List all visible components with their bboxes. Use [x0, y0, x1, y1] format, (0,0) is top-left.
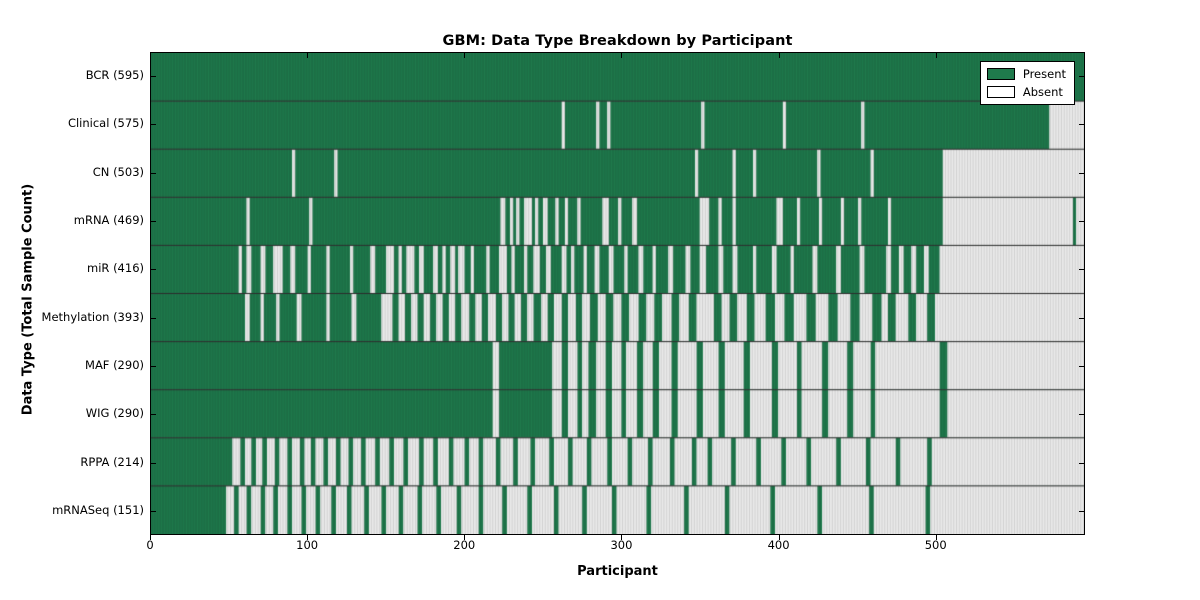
legend-label-absent: Absent: [1023, 85, 1063, 99]
x-tick-mark: [307, 535, 308, 540]
x-tick-mark: [936, 535, 937, 540]
y-axis-tick-cn: CN (503): [4, 165, 144, 179]
legend-swatch-absent: [987, 86, 1015, 98]
x-axis-tick-400: 400: [749, 538, 809, 552]
y-tick-mark: [150, 511, 156, 512]
y-tick-mark: [150, 414, 156, 415]
y-tick-mark-right: [1079, 269, 1085, 270]
x-axis-label: Participant: [150, 564, 1085, 579]
chart-title: GBM: Data Type Breakdown by Participant: [150, 33, 1085, 49]
x-axis-tick-100: 100: [277, 538, 337, 552]
y-axis-tick-rppa: RPPA (214): [4, 455, 144, 469]
y-tick-mark-right: [1079, 463, 1085, 464]
y-tick-mark: [150, 318, 156, 319]
legend-label-present: Present: [1023, 67, 1066, 81]
y-tick-mark: [150, 463, 156, 464]
y-tick-mark: [150, 269, 156, 270]
plot-area: Present Absent: [150, 52, 1085, 535]
x-tick-mark-top: [464, 53, 465, 58]
x-tick-mark: [779, 535, 780, 540]
y-tick-mark-right: [1079, 318, 1085, 319]
y-tick-mark-right: [1079, 124, 1085, 125]
chart-figure: GBM: Data Type Breakdown by Participant …: [0, 0, 1200, 600]
x-axis-tick-500: 500: [906, 538, 966, 552]
y-tick-mark: [150, 366, 156, 367]
y-axis-tick-maf: MAF (290): [4, 358, 144, 372]
chart-legend: Present Absent: [980, 61, 1075, 105]
y-axis-tick-labels: BCR (595)Clinical (575)CN (503)mRNA (469…: [0, 52, 144, 535]
heatmap-canvas: [151, 53, 1084, 534]
y-axis-tick-bcr: BCR (595): [4, 68, 144, 82]
y-axis-tick-wig: WIG (290): [4, 406, 144, 420]
x-axis-tick-300: 300: [591, 538, 651, 552]
y-axis-tick-mrna: mRNA (469): [4, 213, 144, 227]
y-tick-mark-right: [1079, 173, 1085, 174]
legend-item-present: Present: [987, 67, 1066, 81]
x-tick-mark-top: [307, 53, 308, 58]
y-tick-mark-right: [1079, 414, 1085, 415]
x-tick-mark: [464, 535, 465, 540]
y-tick-mark: [150, 173, 156, 174]
y-axis-tick-clinical: Clinical (575): [4, 116, 144, 130]
x-tick-mark-top: [150, 53, 151, 58]
x-tick-mark: [150, 535, 151, 540]
y-tick-mark: [150, 221, 156, 222]
y-axis-tick-methylation: Methylation (393): [4, 310, 144, 324]
x-axis-tick-labels: 0100200300400500: [0, 538, 1200, 558]
y-tick-mark: [150, 124, 156, 125]
x-tick-mark-top: [936, 53, 937, 58]
y-tick-mark-right: [1079, 366, 1085, 367]
y-tick-mark-right: [1079, 76, 1085, 77]
legend-swatch-present: [987, 68, 1015, 80]
y-tick-mark-right: [1079, 221, 1085, 222]
y-tick-mark: [150, 76, 156, 77]
x-axis-tick-0: 0: [120, 538, 180, 552]
y-axis-tick-mrnaseq: mRNASeq (151): [4, 503, 144, 517]
x-tick-mark: [621, 535, 622, 540]
y-axis-tick-mir: miR (416): [4, 261, 144, 275]
x-tick-mark-top: [779, 53, 780, 58]
x-tick-mark-top: [621, 53, 622, 58]
y-tick-mark-right: [1079, 511, 1085, 512]
legend-item-absent: Absent: [987, 85, 1066, 99]
x-axis-tick-200: 200: [434, 538, 494, 552]
